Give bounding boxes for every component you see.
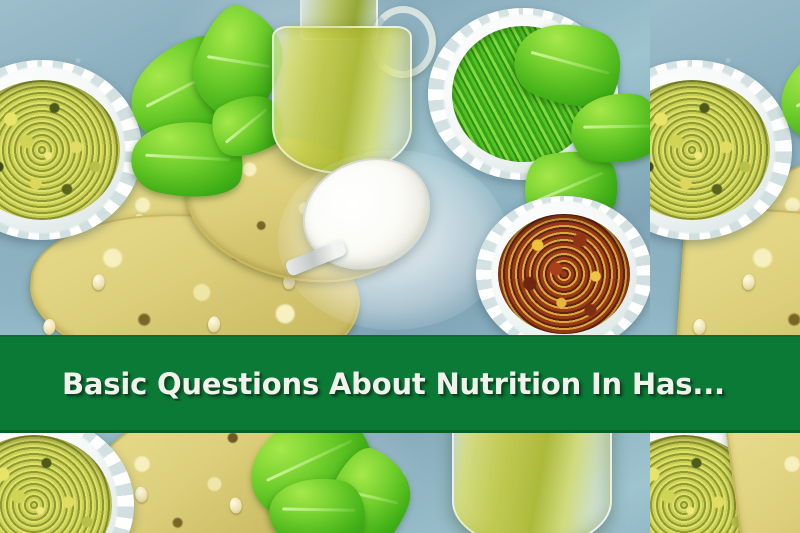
photo-strip-top — [0, 0, 800, 336]
food-photo-scene — [0, 433, 650, 533]
chili-flakes-fill — [498, 214, 630, 334]
herb-seasoning-fill — [0, 435, 112, 533]
herb-seasoning-fill — [0, 80, 120, 220]
food-photo-scene — [650, 0, 800, 336]
bread-seed — [693, 319, 706, 336]
bread-seed — [134, 486, 148, 504]
photo-tile — [0, 0, 650, 336]
chili-flakes-ramekin — [476, 196, 650, 336]
photo-strip-bottom — [0, 433, 800, 533]
herb-seasoning-fill — [650, 80, 770, 220]
bread-seed — [92, 274, 105, 291]
page-title: Basic Questions About Nutrition In Has..… — [0, 367, 765, 401]
photo-tile-repeat — [650, 0, 800, 336]
photo-tile-repeat — [650, 433, 800, 533]
food-photo-scene — [650, 433, 800, 533]
bread-seed — [229, 497, 243, 515]
title-banner: Basic Questions About Nutrition In Has..… — [0, 335, 800, 433]
article-thumbnail-card[interactable]: Basic Questions About Nutrition In Has..… — [0, 0, 800, 533]
bread-seed — [742, 274, 755, 291]
food-photo-scene — [0, 0, 650, 336]
bread-seed — [207, 316, 220, 333]
olive-oil-cruet — [452, 433, 612, 533]
photo-tile — [0, 433, 650, 533]
